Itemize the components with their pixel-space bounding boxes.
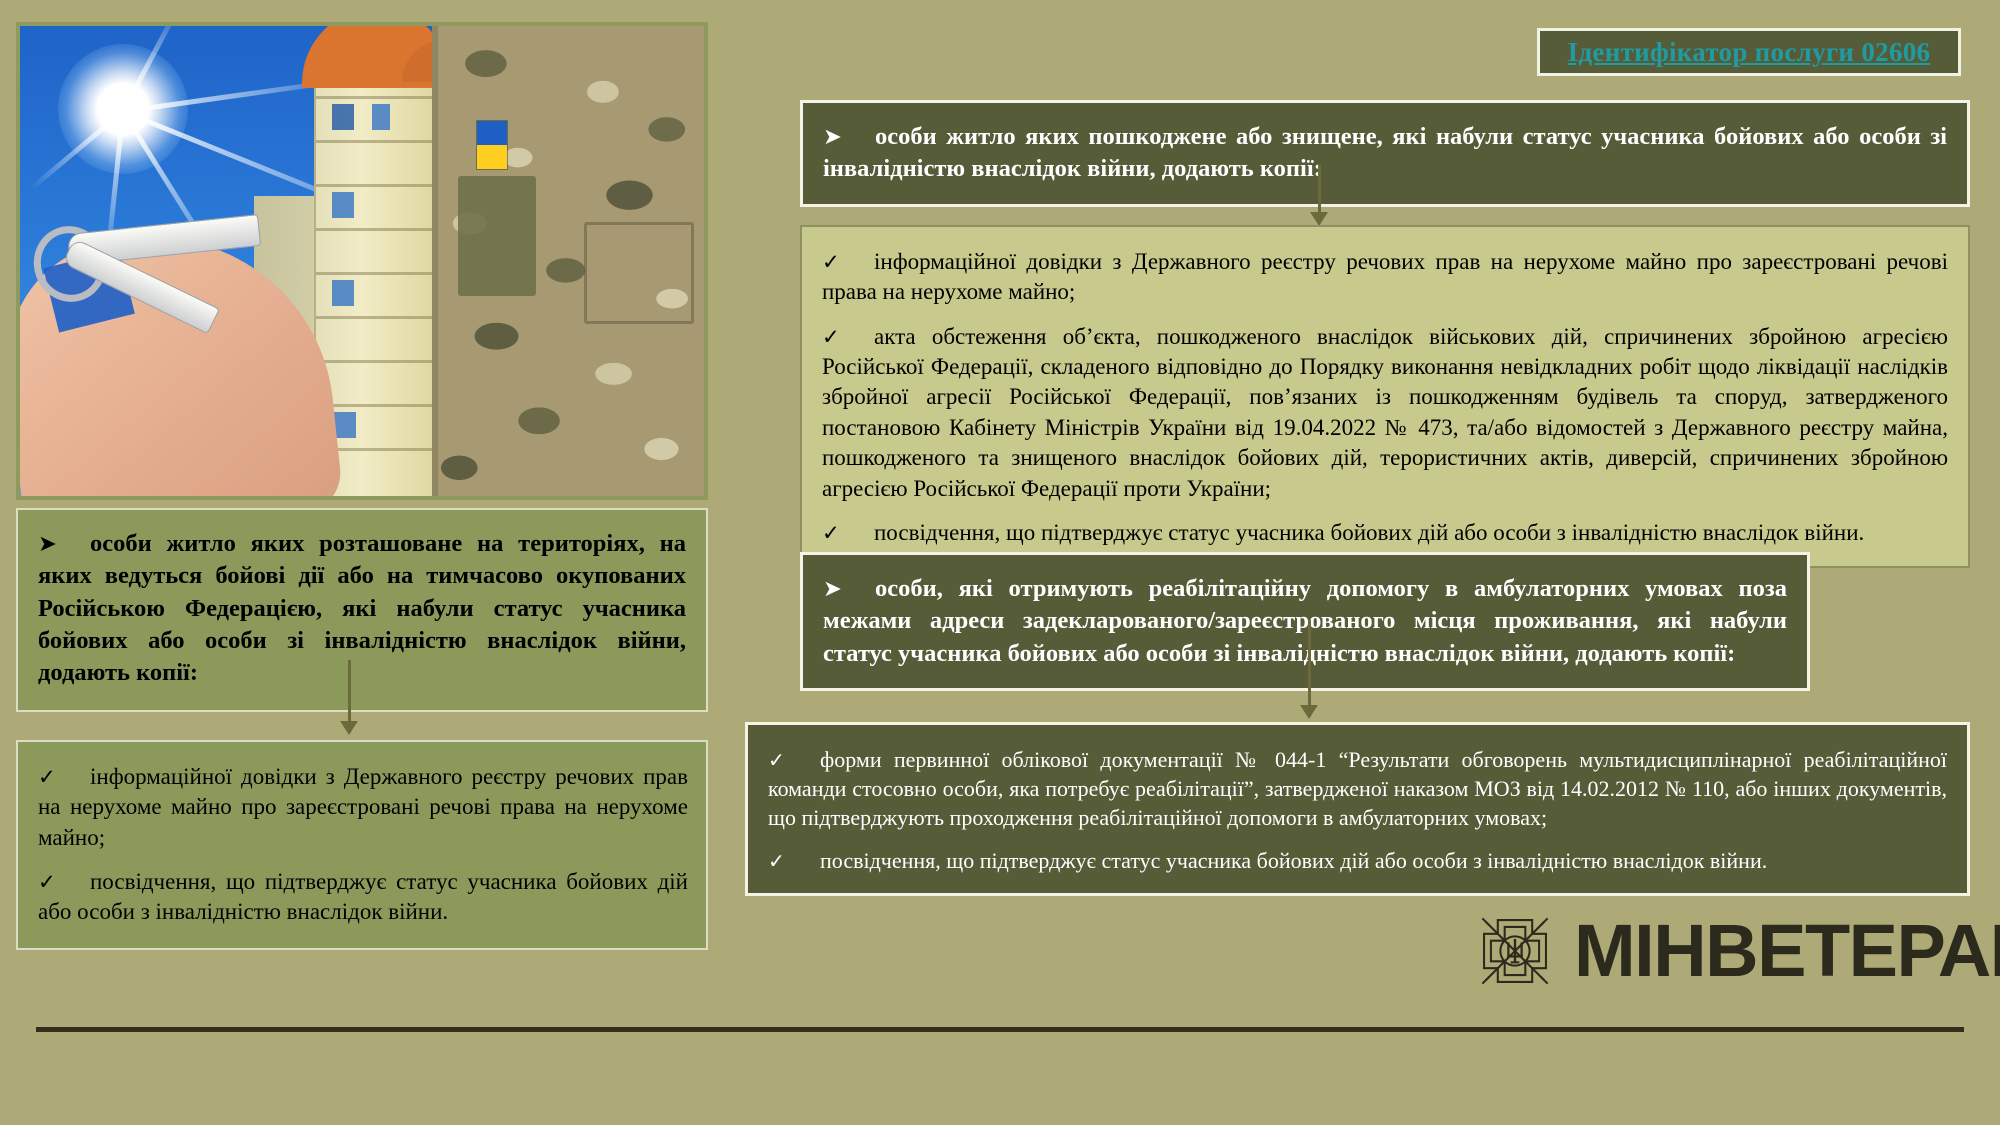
soldier-camouflage-sleeve xyxy=(432,26,704,496)
check-bullet-icon xyxy=(38,763,90,791)
document-text: акта обстеження об’єкта, пошкодженого вн… xyxy=(822,324,1948,501)
arrow-bullet-icon xyxy=(823,123,875,153)
category-text: особи, які отримують реабілітаційну допо… xyxy=(823,575,1787,667)
document-text: інформаційної довідки з Державного реєст… xyxy=(822,249,1948,304)
check-bullet-icon xyxy=(768,848,820,875)
sleeve-pocket xyxy=(584,222,694,324)
connector-arrow-down xyxy=(348,660,351,722)
document-text: інформаційної довідки з Державного реєст… xyxy=(38,764,688,850)
connector-arrow-down xyxy=(1318,165,1321,213)
document-text: посвідчення, що підтверджує статус учасн… xyxy=(38,869,688,924)
service-identifier-badge[interactable]: Ідентифікатор послуги 02606 xyxy=(1537,28,1961,76)
check-bullet-icon xyxy=(38,868,90,896)
arrow-bullet-icon xyxy=(823,575,875,605)
check-bullet-icon xyxy=(822,248,874,276)
ukrainian-flag-patch-icon xyxy=(476,120,508,170)
document-item: посвідчення, що підтверджує статус учасн… xyxy=(822,518,1948,548)
document-item: інформаційної довідки з Державного реєст… xyxy=(822,247,1948,308)
document-item: акта обстеження об’єкта, пошкодженого вн… xyxy=(822,322,1948,504)
document-item: посвідчення, що підтверджує статус учасн… xyxy=(38,867,688,928)
service-identifier-label: Ідентифікатор послуги 02606 xyxy=(1568,37,1931,68)
ministry-logo-text: МІНВЕТЕРАНІВ xyxy=(1574,914,2000,988)
connector-arrow-down xyxy=(1308,620,1311,706)
category-paragraph: особи житло яких розташоване на територі… xyxy=(38,528,686,690)
document-text: посвідчення, що підтверджує статус учасн… xyxy=(874,520,1864,545)
hero-photo-frame xyxy=(16,22,708,500)
category-paragraph: особи, які отримують реабілітаційну допо… xyxy=(823,573,1787,670)
check-bullet-icon xyxy=(822,519,874,547)
category-text: особи житло яких розташоване на територі… xyxy=(38,530,686,686)
slide: Ідентифікатор послуги 02606 xyxy=(0,0,2000,1125)
right-documents-box-rehabilitation: форми первинної облікової документації №… xyxy=(745,722,1970,896)
category-paragraph: особи житло яких пошкоджене або знищене,… xyxy=(823,121,1947,186)
arrow-bullet-icon xyxy=(38,530,90,560)
check-bullet-icon xyxy=(768,747,820,774)
document-item: форми первинної облікової документації №… xyxy=(768,745,1947,832)
document-item: інформаційної довідки з Державного реєст… xyxy=(38,762,688,853)
cross-trident-swords-emblem-icon xyxy=(1472,908,1558,994)
document-item: посвідчення, що підтверджує статус учасн… xyxy=(768,846,1947,875)
footer-divider xyxy=(36,1027,1964,1032)
check-bullet-icon xyxy=(822,323,874,351)
sleeve-pocket xyxy=(458,176,536,296)
ministry-logo: МІНВЕТЕРАНІВ xyxy=(1472,908,2000,994)
left-category-box-combat-zone-housing: особи житло яких розташоване на територі… xyxy=(16,508,708,712)
document-text: форми первинної облікової документації №… xyxy=(768,747,1947,830)
document-text: посвідчення, що підтверджує статус учасн… xyxy=(820,848,1767,873)
category-text: особи житло яких пошкоджене або знищене,… xyxy=(823,123,1947,182)
right-documents-box-damaged-housing: інформаційної довідки з Державного реєст… xyxy=(800,225,1970,568)
right-category-box-damaged-housing: особи житло яких пошкоджене або знищене,… xyxy=(800,100,1970,207)
right-category-box-rehabilitation: особи, які отримують реабілітаційну допо… xyxy=(800,552,1810,691)
left-documents-box-combat-zone-housing: інформаційної довідки з Державного реєст… xyxy=(16,740,708,950)
hero-photo xyxy=(20,26,704,496)
